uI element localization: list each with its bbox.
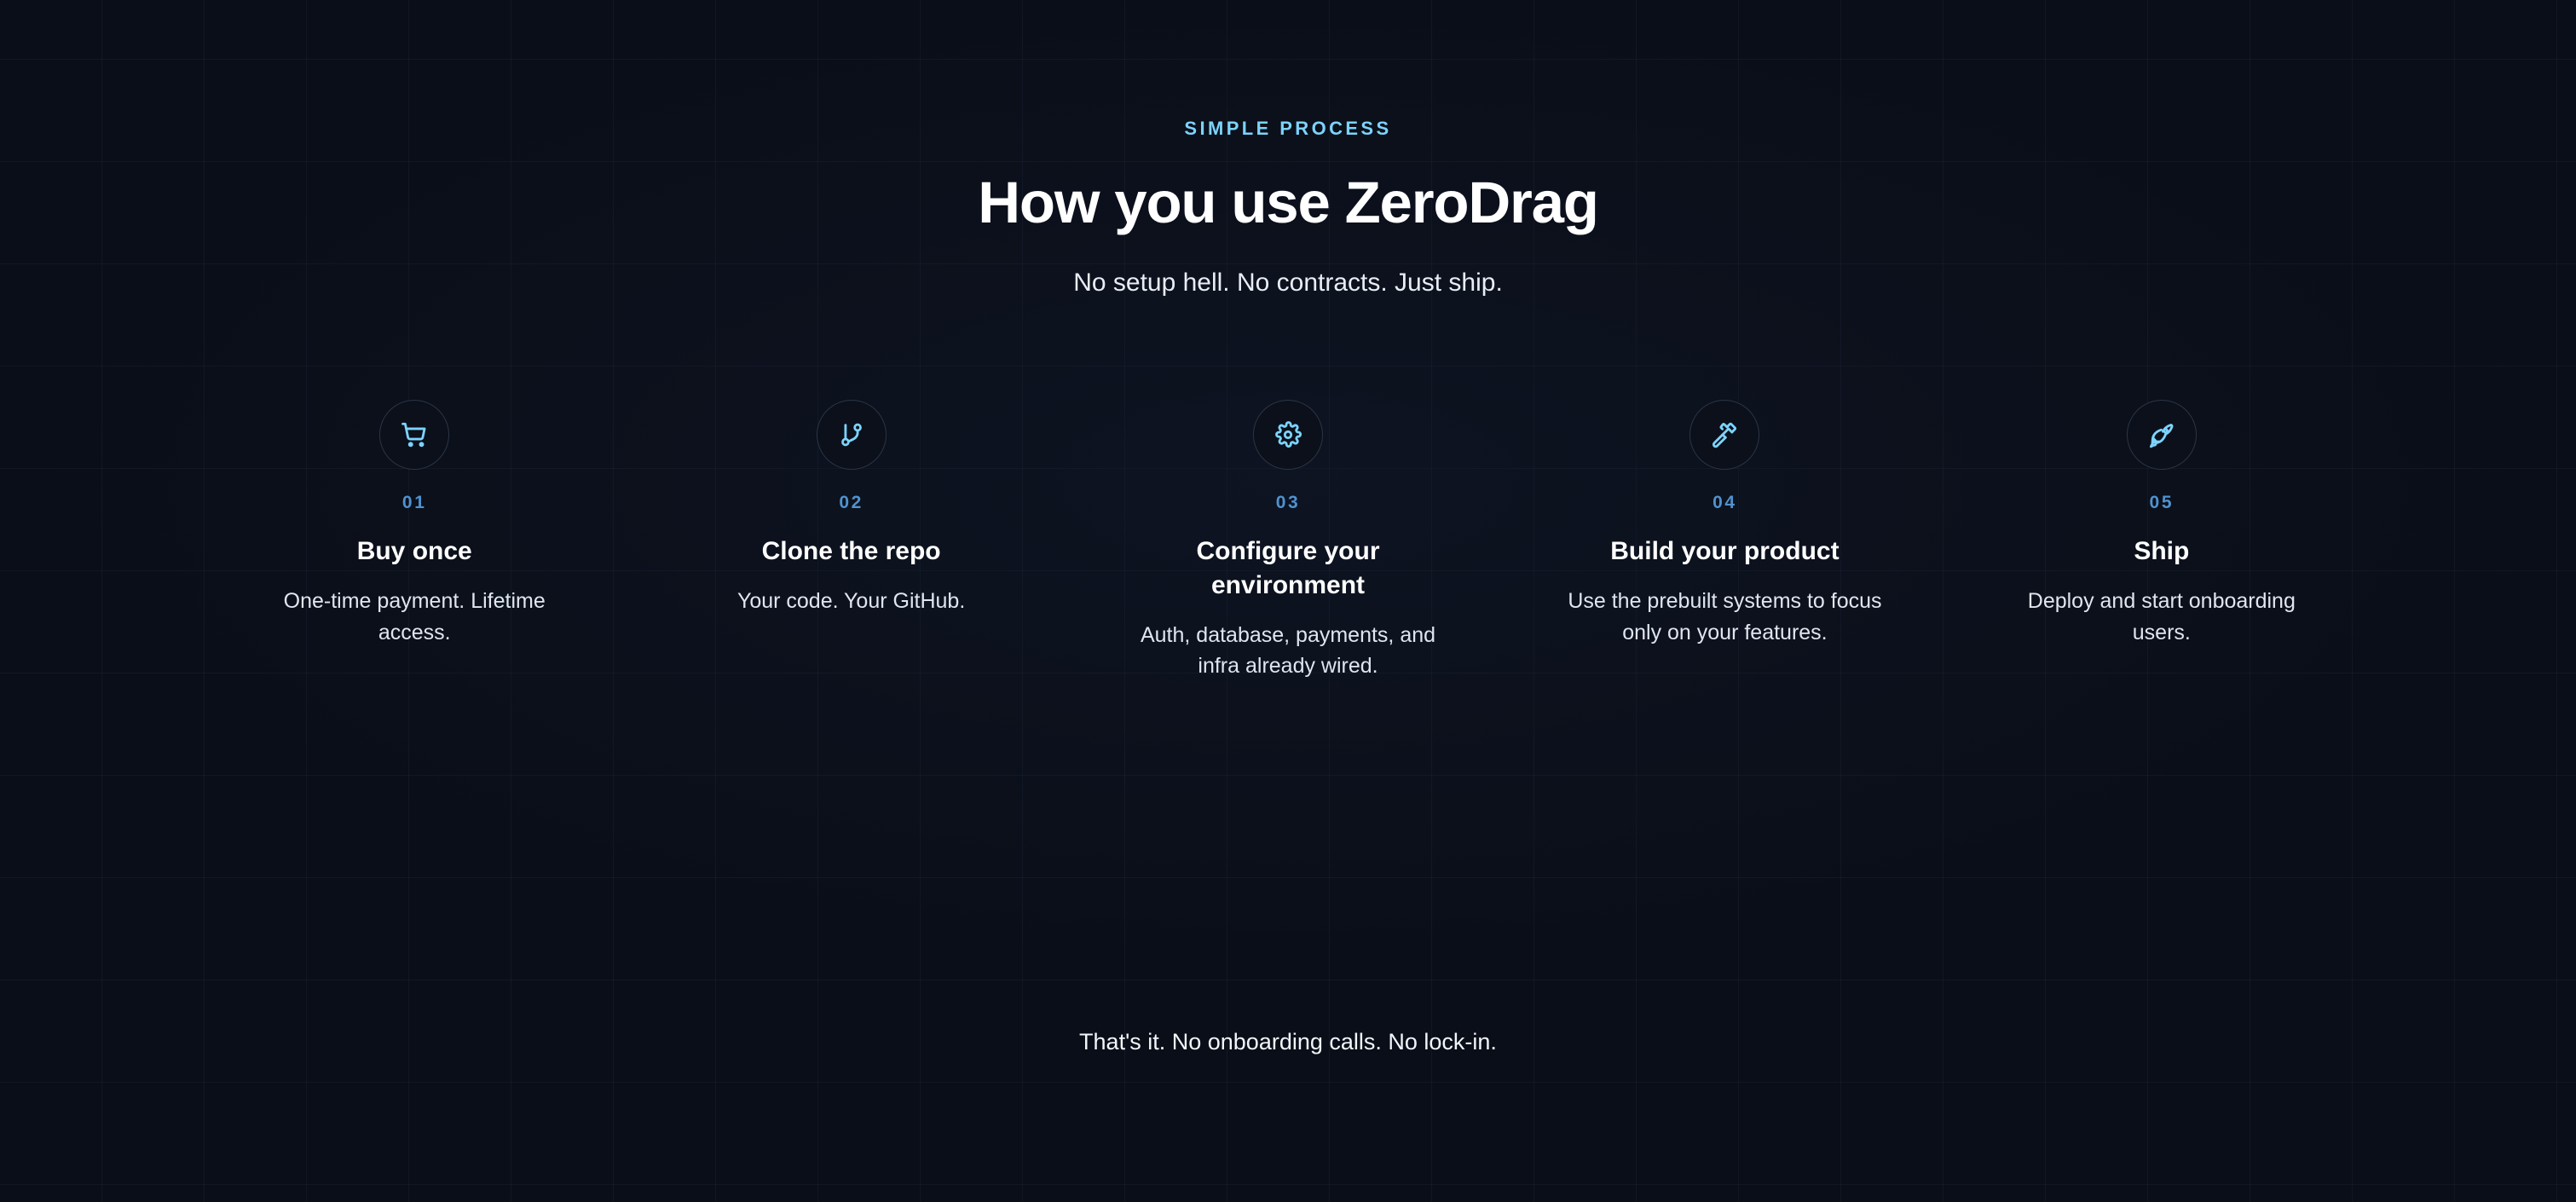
step-item-1[interactable]: 01 Buy once One-time payment. Lifetime a… [196, 400, 632, 681]
step-number-5: 05 [2150, 494, 2175, 511]
step-number-2: 02 [839, 494, 863, 511]
step-item-2[interactable]: 02 Clone the repo Your code. Your GitHub… [632, 400, 1069, 681]
step-item-3[interactable]: 03 Configure your environment Auth, data… [1070, 400, 1506, 681]
steps-container: 01 Buy once One-time payment. Lifetime a… [0, 400, 2576, 766]
step-title-3: Configure your environment [1147, 535, 1429, 603]
step-description-4: Use the prebuilt systems to focus only o… [1565, 586, 1885, 648]
step-title-5: Ship [2134, 535, 2189, 569]
section-eyebrow: SIMPLE PROCESS [0, 119, 2576, 138]
hammer-icon [1710, 420, 1739, 449]
step-number-4: 04 [1713, 494, 1737, 511]
rocket-icon [2147, 420, 2176, 449]
git-branch-icon [837, 420, 866, 449]
page-title: How you use ZeroDrag [0, 172, 2576, 234]
steps-list: 01 Buy once One-time payment. Lifetime a… [0, 400, 2576, 681]
step-title-4: Build your product [1610, 535, 1839, 569]
section-subtitle: No setup hell. No contracts. Just ship. [0, 266, 2576, 299]
gear-icon [1274, 420, 1302, 449]
step-icon-badge-5 [2127, 400, 2197, 470]
step-number-3: 03 [1276, 494, 1301, 511]
step-icon-badge-4 [1689, 400, 1759, 470]
step-icon-badge-2 [817, 400, 887, 470]
shopping-cart-icon [400, 420, 429, 449]
step-number-1: 01 [402, 494, 427, 511]
step-description-1: One-time payment. Lifetime access. [255, 586, 575, 648]
step-item-5[interactable]: 05 Ship Deploy and start onboarding user… [1944, 400, 2380, 681]
step-description-3: Auth, database, payments, and infra alre… [1129, 620, 1448, 682]
section-footnote: That's it. No onboarding calls. No lock-… [0, 1027, 2576, 1057]
step-title-2: Clone the repo [762, 535, 941, 569]
step-title-1: Buy once [357, 535, 472, 569]
step-description-5: Deploy and start onboarding users. [2001, 586, 2321, 648]
step-icon-badge-1 [379, 400, 449, 470]
how-it-works-section: SIMPLE PROCESS How you use ZeroDrag No s… [0, 0, 2576, 1202]
step-icon-badge-3 [1253, 400, 1323, 470]
section-header: SIMPLE PROCESS How you use ZeroDrag No s… [0, 0, 2576, 299]
step-description-2: Your code. Your GitHub. [737, 586, 965, 616]
step-item-4[interactable]: 04 Build your product Use the prebuilt s… [1506, 400, 1943, 681]
